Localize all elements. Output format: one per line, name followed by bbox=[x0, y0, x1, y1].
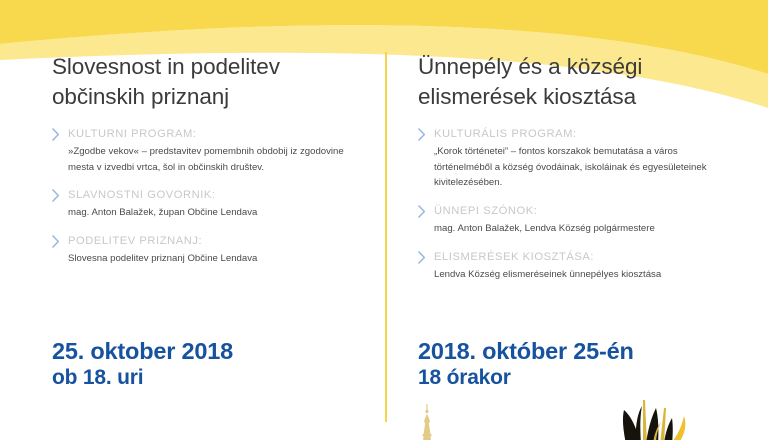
section-body: mag. Anton Balažek, Lendva Község polgár… bbox=[434, 221, 734, 237]
section-label: ELISMERÉSEK KIOSZTÁSA: bbox=[434, 250, 594, 264]
section-header: ÜNNEPI SZÓNOK: bbox=[418, 204, 748, 218]
section-label: SLAVNOSTNI GOVORNIK: bbox=[68, 188, 216, 202]
section-unnepi-szonok: ÜNNEPI SZÓNOK: mag. Anton Balažek, Lendv… bbox=[418, 204, 748, 237]
section-header: SLAVNOSTNI GOVORNIK: bbox=[52, 188, 350, 202]
event-time-line: 18 órakor bbox=[418, 365, 634, 390]
column-hungarian: Ünnepély és a községi elismerések kioszt… bbox=[384, 0, 768, 440]
page-title-hungarian: Ünnepély és a községi elismerések kioszt… bbox=[418, 52, 748, 111]
section-body: mag. Anton Balažek, župan Občine Lendava bbox=[68, 205, 350, 221]
section-label: KULTURNI PROGRAM: bbox=[68, 127, 196, 141]
event-time-line: ob 18. uri bbox=[52, 365, 233, 390]
section-elismeresek-kiosztasa: ELISMERÉSEK KIOSZTÁSA: Lendva Község eli… bbox=[418, 250, 748, 283]
chevron-right-icon bbox=[418, 251, 426, 264]
section-header: KULTURÁLIS PROGRAM: bbox=[418, 127, 748, 141]
section-body: »Zgodbe vekov« – predstavitev pomembnih … bbox=[68, 144, 350, 175]
section-header: KULTURNI PROGRAM: bbox=[52, 127, 350, 141]
event-date-line: 2018. október 25-én bbox=[418, 338, 634, 365]
column-slovenian: Slovesnost in podelitev občinskih prizna… bbox=[0, 0, 384, 440]
section-body: Slovesna podelitev priznanj Občine Lenda… bbox=[68, 251, 350, 267]
section-slavnostni-govornik: SLAVNOSTNI GOVORNIK: mag. Anton Balažek,… bbox=[52, 188, 350, 221]
section-header: ELISMERÉSEK KIOSZTÁSA: bbox=[418, 250, 748, 264]
page-title-slovenian: Slovesnost in podelitev občinskih prizna… bbox=[52, 52, 350, 111]
event-date-hungarian: 2018. október 25-én 18 órakor bbox=[418, 338, 634, 390]
section-podelitev-priznanj: PODELITEV PRIZNANJ: Slovesna podelitev p… bbox=[52, 234, 350, 267]
section-label: PODELITEV PRIZNANJ: bbox=[68, 234, 202, 248]
section-body: Lendva Község elismeréseinek ünnepélyes … bbox=[434, 267, 734, 283]
section-list-slovenian: KULTURNI PROGRAM: »Zgodbe vekov« – preds… bbox=[52, 127, 350, 266]
church-spire-icon bbox=[415, 404, 439, 440]
section-label: ÜNNEPI SZÓNOK: bbox=[434, 204, 537, 218]
event-date-line: 25. oktober 2018 bbox=[52, 338, 233, 365]
section-label: KULTURÁLIS PROGRAM: bbox=[434, 127, 577, 141]
chevron-right-icon bbox=[52, 235, 60, 248]
chevron-right-icon bbox=[52, 128, 60, 141]
section-list-hungarian: KULTURÁLIS PROGRAM: „Korok történetei” –… bbox=[418, 127, 748, 282]
poster-columns: Slovesnost in podelitev občinskih prizna… bbox=[0, 0, 768, 440]
section-kulturalis-program: KULTURÁLIS PROGRAM: „Korok történetei” –… bbox=[418, 127, 748, 191]
chevron-right-icon bbox=[418, 128, 426, 141]
wheat-stalks-icon bbox=[612, 398, 708, 440]
section-kulturni-program: KULTURNI PROGRAM: »Zgodbe vekov« – preds… bbox=[52, 127, 350, 175]
poster-canvas: Slovesnost in podelitev občinskih prizna… bbox=[0, 0, 768, 440]
section-body: „Korok történetei” – fontos korszakok be… bbox=[434, 144, 734, 191]
chevron-right-icon bbox=[52, 189, 60, 202]
event-date-slovenian: 25. oktober 2018 ob 18. uri bbox=[52, 338, 233, 390]
chevron-right-icon bbox=[418, 205, 426, 218]
section-header: PODELITEV PRIZNANJ: bbox=[52, 234, 350, 248]
